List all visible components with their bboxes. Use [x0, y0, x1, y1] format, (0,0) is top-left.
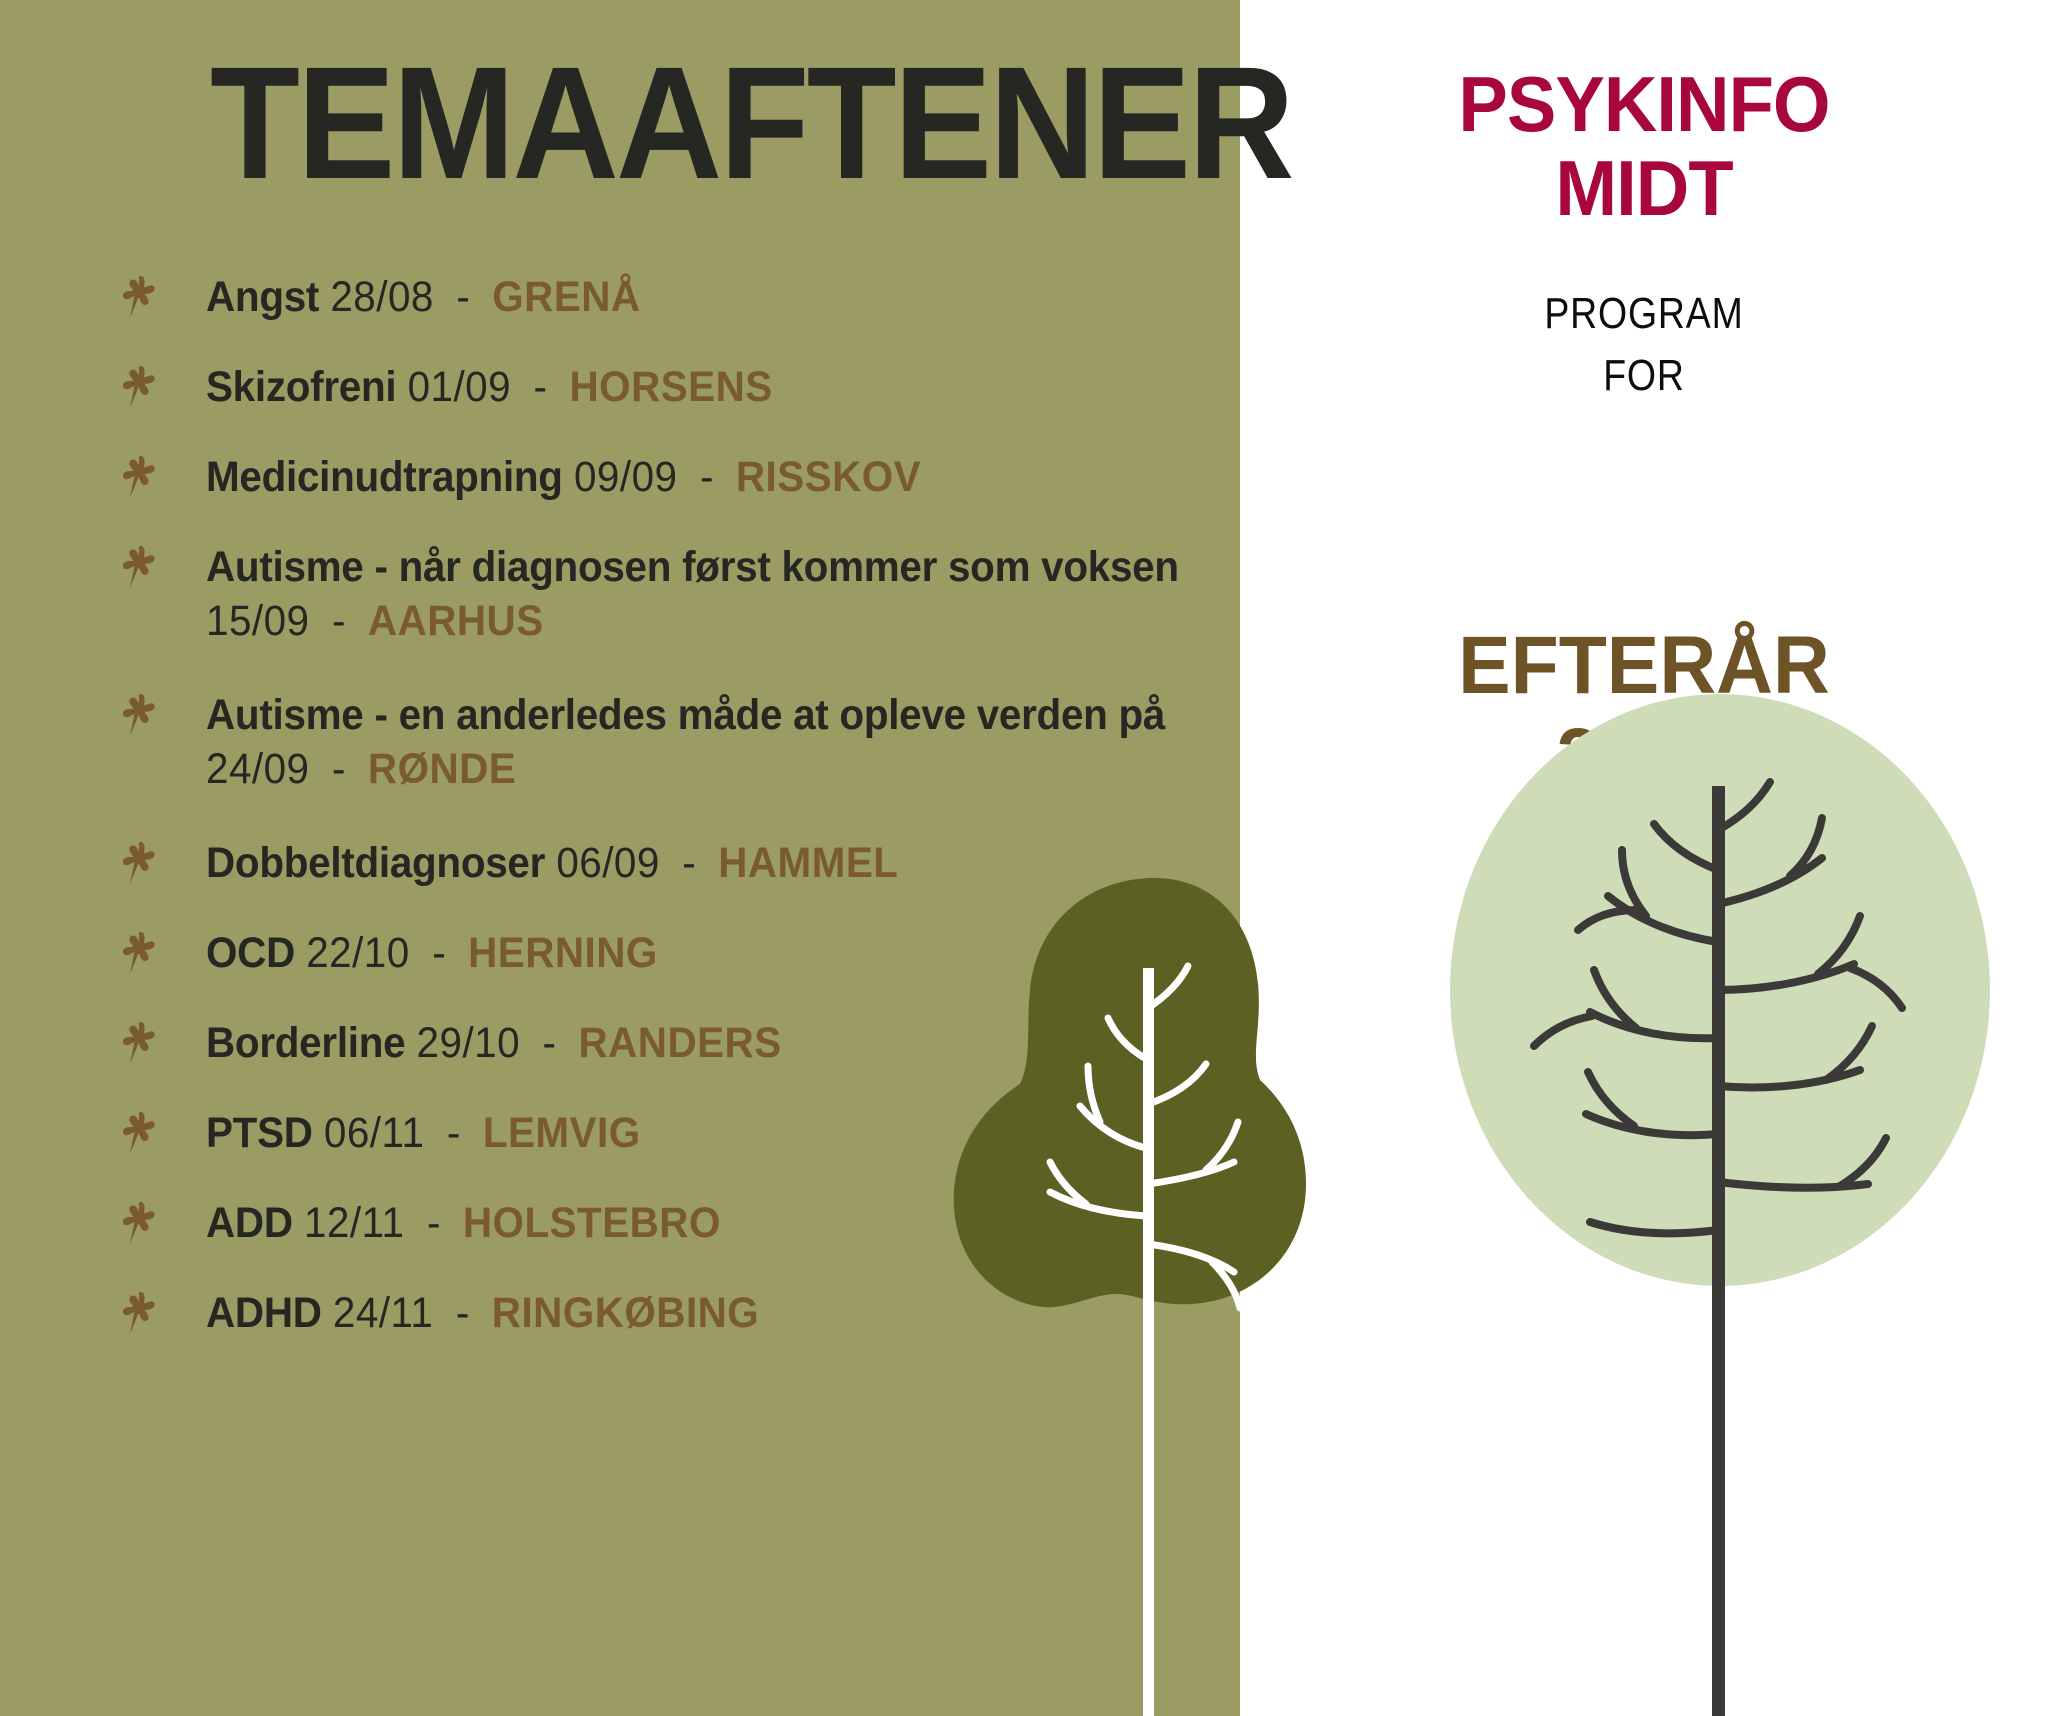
event-row: Skizofreni 01/09 - HORSENS — [118, 360, 1228, 414]
event-city: AARHUS — [368, 597, 544, 645]
for-label: FOR — [1301, 346, 1988, 406]
event-city: RISSKOV — [736, 453, 921, 501]
event-text: Dobbeltdiagnoser 06/09 - HAMMEL — [206, 836, 1167, 890]
event-city: HAMMEL — [718, 839, 898, 887]
event-date: 24/09 — [206, 745, 310, 793]
event-text: ADD 12/11 - HOLSTEBRO — [206, 1196, 1167, 1250]
event-dash: - — [332, 745, 345, 793]
event-date: 22/10 — [306, 929, 410, 977]
event-row: OCD 22/10 - HERNING — [118, 926, 1228, 980]
event-text: Autisme - når diagnosen først kommer som… — [206, 540, 1179, 648]
event-date: 24/11 — [333, 1289, 434, 1337]
brand-name-line1: PSYKINFO — [1260, 62, 2028, 146]
event-date: 06/11 — [324, 1109, 425, 1157]
event-text: OCD 22/10 - HERNING — [206, 926, 1167, 980]
pushpin-icon — [118, 930, 206, 976]
pushpin-icon — [118, 692, 206, 738]
event-topic: OCD — [206, 929, 295, 977]
pushpin-icon — [118, 454, 206, 500]
event-row: Autisme - en anderledes måde at opleve v… — [118, 688, 1228, 796]
brand-name-line2: MIDT — [1260, 146, 2028, 230]
event-date: 09/09 — [574, 453, 678, 501]
pushpin-icon — [118, 544, 206, 590]
program-label: PROGRAM — [1301, 284, 1988, 344]
event-dash: - — [427, 1199, 440, 1247]
event-text: Autisme - en anderledes måde at opleve v… — [206, 688, 1167, 796]
event-topic: ADD — [206, 1199, 293, 1247]
event-text: Angst 28/08 - GRENÅ — [206, 270, 1167, 324]
event-dash: - — [534, 363, 547, 411]
event-city: HOLSTEBRO — [463, 1199, 721, 1247]
event-date: 12/11 — [304, 1199, 405, 1247]
event-city: GRENÅ — [492, 273, 640, 321]
event-text: Skizofreni 01/09 - HORSENS — [206, 360, 1167, 414]
event-row: Autisme - når diagnosen først kommer som… — [118, 540, 1228, 648]
event-text: Borderline 29/10 - RANDERS — [206, 1016, 1167, 1070]
event-topic: Autisme - en anderledes måde at opleve v… — [206, 691, 1165, 739]
tree-bare-branches-icon — [1440, 690, 2000, 1716]
pushpin-icon — [118, 1200, 206, 1246]
event-row: Borderline 29/10 - RANDERS — [118, 1016, 1228, 1070]
event-topic: Medicinudtrapning — [206, 453, 563, 501]
event-city: RINGKØBING — [492, 1289, 759, 1337]
pushpin-icon — [118, 1110, 206, 1156]
event-date: 15/09 — [206, 597, 310, 645]
event-text: ADHD 24/11 - RINGKØBING — [206, 1286, 1167, 1340]
event-dash: - — [543, 1019, 556, 1067]
event-date: 01/09 — [408, 363, 512, 411]
event-topic: Autisme - når diagnosen først kommer som… — [206, 543, 1179, 591]
event-row: Angst 28/08 - GRENÅ — [118, 270, 1228, 324]
event-dash: - — [332, 597, 345, 645]
event-dash: - — [432, 929, 445, 977]
event-row: ADD 12/11 - HOLSTEBRO — [118, 1196, 1228, 1250]
event-dash: - — [456, 1289, 469, 1337]
pushpin-icon — [118, 840, 206, 886]
event-row: ADHD 24/11 - RINGKØBING — [118, 1286, 1228, 1340]
event-city: LEMVIG — [483, 1109, 641, 1157]
event-dash: - — [456, 273, 469, 321]
event-city: HORSENS — [570, 363, 773, 411]
event-topic: Skizofreni — [206, 363, 396, 411]
page-title: TEMAAFTENER — [210, 48, 1292, 198]
event-dash: - — [447, 1109, 460, 1157]
event-text: Medicinudtrapning 09/09 - RISSKOV — [206, 450, 1167, 504]
pushpin-icon — [118, 1290, 206, 1336]
event-topic: ADHD — [206, 1289, 322, 1337]
event-topic: PTSD — [206, 1109, 313, 1157]
event-dash: - — [682, 839, 695, 887]
poster-canvas: TEMAAFTENER Angst 28/08 - GRENÅSkizofren… — [0, 0, 2048, 1716]
event-city: HERNING — [468, 929, 658, 977]
event-text: PTSD 06/11 - LEMVIG — [206, 1106, 1167, 1160]
brand-block: PSYKINFO MIDT PROGRAM FOR — [1240, 62, 2048, 406]
event-topic: Angst — [206, 273, 319, 321]
event-dash: - — [700, 453, 713, 501]
pushpin-icon — [118, 364, 206, 410]
event-topic: Borderline — [206, 1019, 405, 1067]
event-date: 28/08 — [330, 273, 434, 321]
pushpin-icon — [118, 274, 206, 320]
event-row: Dobbeltdiagnoser 06/09 - HAMMEL — [118, 836, 1228, 890]
event-topic: Dobbeltdiagnoser — [206, 839, 545, 887]
event-date: 29/10 — [417, 1019, 521, 1067]
event-row: Medicinudtrapning 09/09 - RISSKOV — [118, 450, 1228, 504]
event-city: RØNDE — [368, 745, 516, 793]
event-row: PTSD 06/11 - LEMVIG — [118, 1106, 1228, 1160]
event-date: 06/09 — [556, 839, 660, 887]
event-list: Angst 28/08 - GRENÅSkizofreni 01/09 - HO… — [118, 270, 1228, 1376]
event-city: RANDERS — [578, 1019, 781, 1067]
pushpin-icon — [118, 1020, 206, 1066]
